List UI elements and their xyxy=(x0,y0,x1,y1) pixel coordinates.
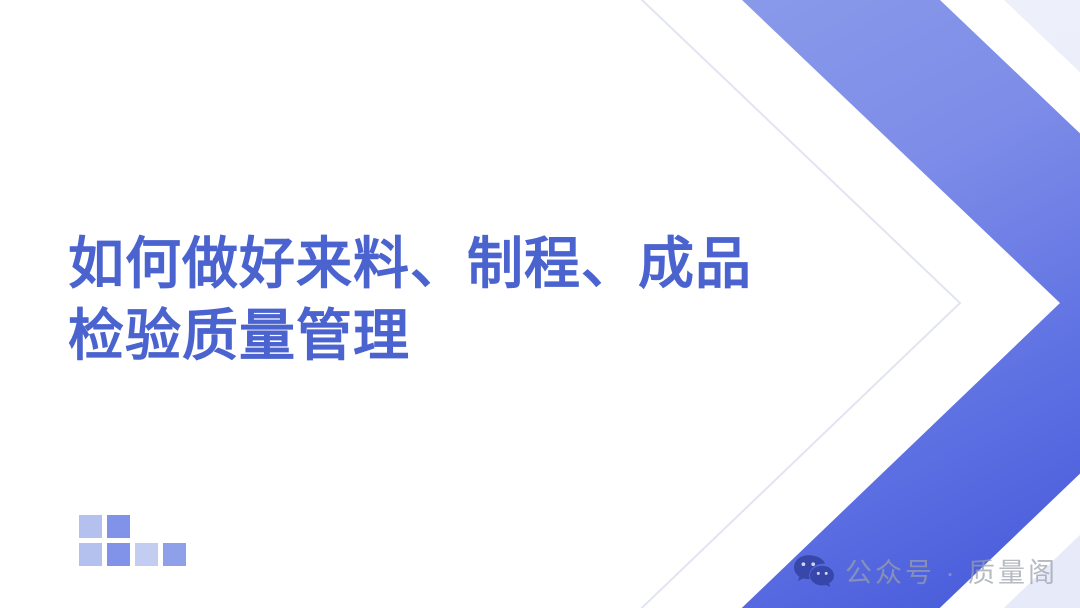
watermark-text: 公众号 · 质量阁 xyxy=(845,551,1058,590)
decorative-square xyxy=(79,543,102,566)
decorative-square xyxy=(79,515,102,538)
decorative-square xyxy=(163,543,186,566)
presentation-slide: 如何做好来料、制程、成品 检验质量管理 公众号 · 质量阁 xyxy=(0,0,1080,608)
page-title: 如何做好来料、制程、成品 检验质量管理 xyxy=(68,228,768,371)
decorative-square xyxy=(107,543,130,566)
decorative-square-empty xyxy=(163,515,186,538)
decorative-square-empty xyxy=(135,515,158,538)
wechat-icon xyxy=(793,554,835,588)
decorative-square xyxy=(135,543,158,566)
decorative-square xyxy=(107,515,130,538)
white-gap-chevron xyxy=(862,0,1080,608)
decorative-square-grid xyxy=(79,515,186,566)
title-block: 如何做好来料、制程、成品 检验质量管理 xyxy=(68,228,768,371)
watermark: 公众号 · 质量阁 xyxy=(793,551,1058,590)
outer-pale-chevron xyxy=(930,0,1080,608)
